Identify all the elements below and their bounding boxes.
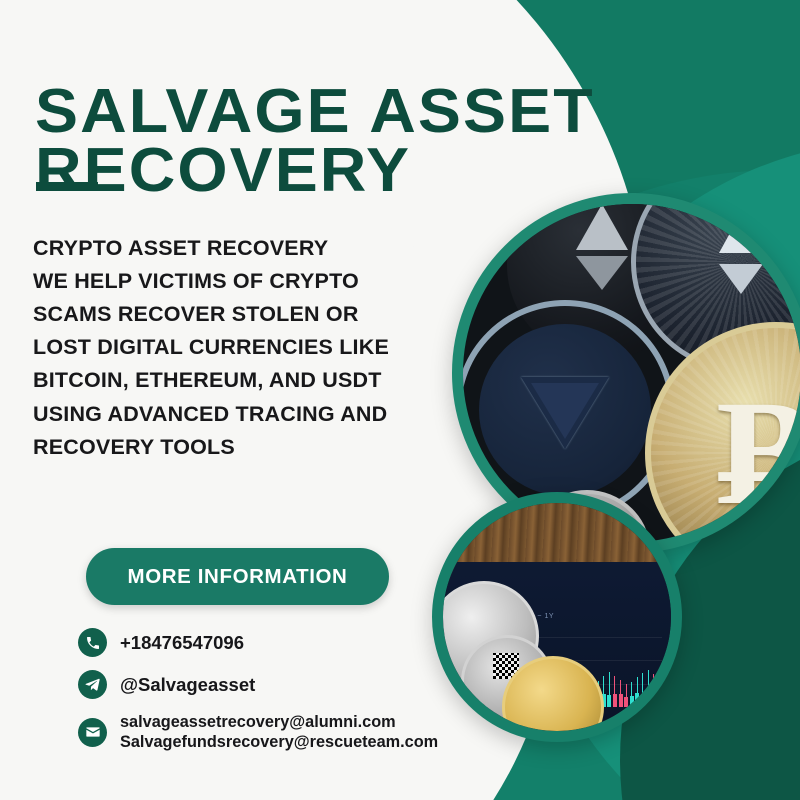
body-copy-line-2: WE HELP VICTIMS OF CRYPTO xyxy=(33,265,513,298)
page-title: SALVAGE ASSET RECOVERY xyxy=(35,82,576,201)
tron-logo-icon xyxy=(521,377,609,449)
bitcoin-symbol-icon: Ƀ xyxy=(716,378,800,528)
telegram-icon xyxy=(78,670,107,699)
email-addresses: salvageassetrecovery@alumni.com Salvagef… xyxy=(120,712,438,752)
telegram-handle: @Salvageasset xyxy=(120,674,255,696)
poster-canvas: Ƀ ETHUSD 1m 30m 1h ~ 1Y 45400.00 45300.0… xyxy=(0,0,800,800)
phone-number: +18476547096 xyxy=(120,632,244,654)
body-copy-line-1: CRYPTO ASSET RECOVERY xyxy=(33,232,513,265)
title-underline xyxy=(36,182,98,191)
body-copy-line-3: SCAMS RECOVER STOLEN OR xyxy=(33,298,513,331)
candlestick xyxy=(641,673,645,707)
candlestick xyxy=(624,684,628,707)
contact-list: +18476547096 @Salvageasset salvageassetr… xyxy=(78,628,498,765)
candlestick xyxy=(607,672,611,707)
body-copy-line-4: LOST DIGITAL CURRENCIES LIKE xyxy=(33,331,513,364)
phone-icon xyxy=(78,628,107,657)
body-copy-line-7: RECOVERY TOOLS xyxy=(33,431,513,464)
body-copy-line-5: BITCOIN, ETHEREUM, AND USDT xyxy=(33,364,513,397)
contact-email[interactable]: salvageassetrecovery@alumni.com Salvagef… xyxy=(78,712,498,752)
contact-phone[interactable]: +18476547096 xyxy=(78,628,498,657)
candlestick xyxy=(613,676,617,708)
envelope-icon xyxy=(78,718,107,747)
body-copy: CRYPTO ASSET RECOVERYWE HELP VICTIMS OF … xyxy=(33,232,513,464)
email-secondary: Salvagefundsrecovery@rescueteam.com xyxy=(120,732,438,752)
coins-photo-inner: Ƀ xyxy=(463,204,800,542)
candlestick xyxy=(619,680,623,707)
candlestick xyxy=(652,674,656,707)
body-copy-line-6: USING ADVANCED TRACING AND xyxy=(33,398,513,431)
title-line-2: RECOVERY xyxy=(35,141,576,201)
more-information-button[interactable]: MORE INFORMATION xyxy=(86,548,389,605)
email-primary: salvageassetrecovery@alumni.com xyxy=(120,712,438,732)
candlestick xyxy=(646,670,650,707)
candlestick xyxy=(630,682,634,708)
contact-telegram[interactable]: @Salvageasset xyxy=(78,670,498,699)
title-line-1: SALVAGE ASSET xyxy=(35,82,576,142)
candlestick xyxy=(635,677,639,707)
